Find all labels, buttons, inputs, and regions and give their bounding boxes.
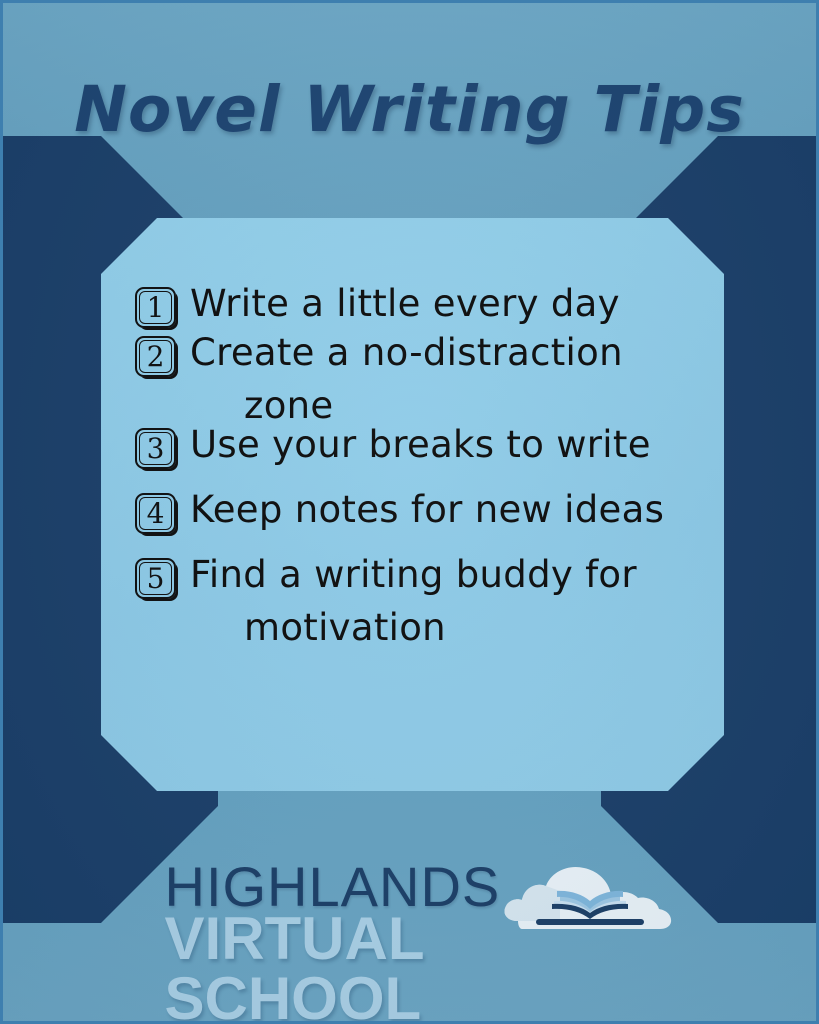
- boxed-number-icon: 2: [133, 334, 180, 381]
- list-item-text: Create a no-distraction zone: [190, 334, 733, 424]
- list-item: 4 Keep notes for new ideas: [133, 491, 733, 538]
- list-item-text: Use your breaks to write: [190, 426, 733, 463]
- boxed-number-digit: 1: [133, 285, 178, 330]
- poster-canvas: Novel Writing Tips 1 Write a little ever…: [0, 0, 819, 1024]
- boxed-number-icon: 4: [133, 491, 180, 538]
- tips-list: 1 Write a little every day 2 Create a no…: [133, 285, 733, 648]
- school-logo: HIGHLANDS VIRTUAL SCHOOL: [3, 859, 816, 979]
- list-item-line1: Create a no-distraction: [190, 331, 623, 374]
- list-item-text: Find a writing buddy for motivation: [190, 556, 733, 646]
- list-item-text: Keep notes for new ideas: [190, 491, 733, 528]
- list-item-line1: Find a writing buddy for: [190, 553, 637, 596]
- list-item: 3 Use your breaks to write: [133, 426, 733, 473]
- boxed-number-digit: 5: [133, 556, 178, 601]
- boxed-number-icon: 5: [133, 556, 180, 603]
- cloud-with-open-book-icon: [500, 855, 680, 935]
- boxed-number-digit: 2: [133, 334, 178, 379]
- boxed-number-icon: 3: [133, 426, 180, 473]
- boxed-number-digit: 3: [133, 426, 178, 471]
- list-item-text: Write a little every day: [190, 285, 733, 322]
- boxed-number-digit: 4: [133, 491, 178, 536]
- boxed-number-icon: 1: [133, 285, 180, 332]
- list-item: 2 Create a no-distraction zone: [133, 334, 733, 424]
- list-item-line2: zone: [190, 387, 733, 424]
- list-item-line2: motivation: [190, 609, 733, 646]
- list-item: 5 Find a writing buddy for motivation: [133, 556, 733, 646]
- page-title: Novel Writing Tips: [3, 73, 816, 146]
- list-item: 1 Write a little every day: [133, 285, 733, 332]
